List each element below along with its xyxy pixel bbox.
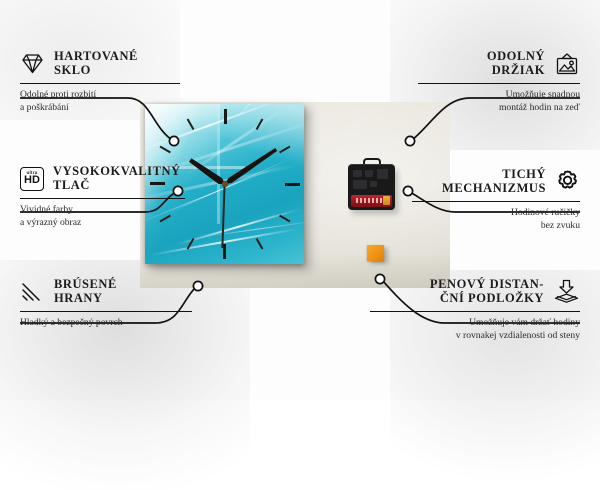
- feature-title-line1: PENOVÝ DISTAN-: [430, 278, 544, 292]
- feature-desc-line1: Odolné proti rozbití: [20, 89, 180, 101]
- battery-positive-terminal: [383, 196, 390, 205]
- divider: [20, 311, 192, 312]
- clock-mechanism: [348, 164, 395, 210]
- feature-title-line2: MECHANIZMUS: [442, 182, 546, 196]
- feature-heading: TICHÝ MECHANIZMUS: [412, 168, 580, 195]
- feature-title-line2: TLAČ: [53, 179, 181, 193]
- divider: [20, 83, 180, 84]
- mechanism-detail: [353, 170, 362, 177]
- tick-mark: [225, 183, 300, 185]
- divider: [20, 198, 185, 199]
- feature-desc-line1: Umožňuje snadnou: [418, 89, 580, 101]
- feature-durable-hanger: ODOLNÝ DRŽIAK Umožňuje snadnou montáž ho…: [418, 50, 580, 114]
- feature-desc-line2: v rovnakej vzdialenosti od steny: [370, 330, 580, 342]
- feature-foam-spacers: PENOVÝ DISTAN- ČNÍ PODLOŽKY Umožňuje vám…: [370, 278, 580, 342]
- clock-center-cap: [222, 181, 228, 187]
- feature-title-line1: BRÚSENÉ: [54, 278, 117, 292]
- feature-polished-edges: BRÚSENÉ HRANY Hladký a bezpečný povrch: [20, 278, 192, 330]
- feature-desc-line2: a výrazný obraz: [20, 217, 185, 229]
- mechanism-detail: [370, 181, 377, 187]
- feature-title-line1: HARTOVANÉ: [54, 50, 138, 64]
- battery: [351, 195, 392, 207]
- feature-tempered-glass: HARTOVANÉ SKLO Odolné proti rozbití a po…: [20, 50, 180, 114]
- mechanism-detail: [365, 170, 373, 177]
- gear-icon: [555, 169, 580, 194]
- battery-label: [356, 198, 382, 203]
- divider: [418, 83, 580, 84]
- feature-high-quality-print: ultra HD VYSOKOKVALITNÝ TLAČ Vividné far…: [20, 165, 185, 229]
- feature-heading: ODOLNÝ DRŽIAK: [418, 50, 580, 77]
- feature-title-line1: TICHÝ: [442, 168, 546, 182]
- feature-title-line2: DRŽIAK: [487, 64, 545, 78]
- tick-mark: [224, 109, 226, 184]
- foam-spacer-pad: [367, 245, 384, 261]
- arrow-onto-layers-icon: [553, 279, 580, 304]
- feature-title-line1: ODOLNÝ: [487, 50, 545, 64]
- divider: [370, 311, 580, 312]
- feature-heading: HARTOVANÉ SKLO: [20, 50, 180, 77]
- diagonal-lines-icon: [20, 280, 45, 303]
- feature-heading: PENOVÝ DISTAN- ČNÍ PODLOŽKY: [370, 278, 580, 305]
- badge-large-text: HD: [24, 175, 40, 186]
- feature-desc-line1: Vividné farby: [20, 204, 185, 216]
- feature-title-line1: VYSOKOKVALITNÝ: [53, 165, 181, 179]
- divider: [412, 201, 580, 202]
- diamond-icon: [20, 52, 45, 75]
- mechanism-detail: [377, 169, 388, 179]
- feature-desc-line2: a poškrábání: [20, 102, 180, 114]
- feature-title-line2: HRANY: [54, 292, 117, 306]
- feature-desc-line1: Hladký a bezpečný povrch: [20, 317, 192, 329]
- feature-title-line2: ČNÍ PODLOŽKY: [430, 292, 544, 306]
- ultra-hd-badge-icon: ultra HD: [20, 167, 44, 191]
- feature-heading: ultra HD VYSOKOKVALITNÝ TLAČ: [20, 165, 185, 192]
- feature-title-line2: SKLO: [54, 64, 138, 78]
- framed-picture-icon: [554, 52, 580, 76]
- feature-heading: BRÚSENÉ HRANY: [20, 278, 192, 305]
- mechanism-body: [348, 164, 395, 210]
- feature-desc-line2: montáž hodin na zeď: [418, 102, 580, 114]
- feature-desc-line1: Umožňuje vám držať hodiny: [370, 317, 580, 329]
- feature-silent-mechanism: TICHÝ MECHANIZMUS Hodinové ručičky bez z…: [412, 168, 580, 232]
- feature-desc-line2: bez zvuku: [412, 220, 580, 232]
- feature-desc-line1: Hodinové ručičky: [412, 207, 580, 219]
- mechanism-detail: [353, 180, 367, 189]
- infographic-stage: HARTOVANÉ SKLO Odolné proti rozbití a po…: [0, 0, 600, 400]
